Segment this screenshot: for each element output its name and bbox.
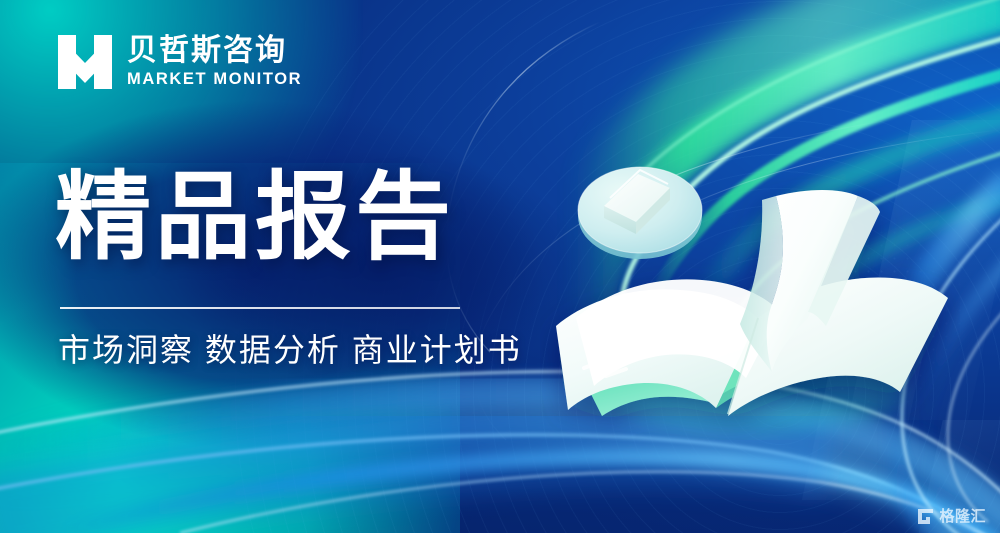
title-divider (60, 307, 460, 309)
brand-logo-text: 贝哲斯咨询 MARKET MONITOR (127, 34, 302, 90)
brand-name-cn: 贝哲斯咨询 (127, 34, 302, 68)
brand-name-en: MARKET MONITOR (127, 69, 302, 90)
g-square-icon (917, 508, 934, 525)
brand-logo: 贝哲斯咨询 MARKET MONITOR (56, 33, 302, 91)
watermark: 格隆汇 (917, 508, 986, 525)
open-book-illustration (540, 140, 960, 440)
m-monogram-icon (56, 33, 114, 91)
watermark-text: 格隆汇 (939, 509, 986, 524)
report-banner: 贝哲斯咨询 MARKET MONITOR 精品报告 市场洞察 数据分析 商业计划… (0, 0, 1000, 533)
page-subtitle: 市场洞察 数据分析 商业计划书 (58, 327, 522, 373)
page-title: 精品报告 (55, 168, 455, 269)
